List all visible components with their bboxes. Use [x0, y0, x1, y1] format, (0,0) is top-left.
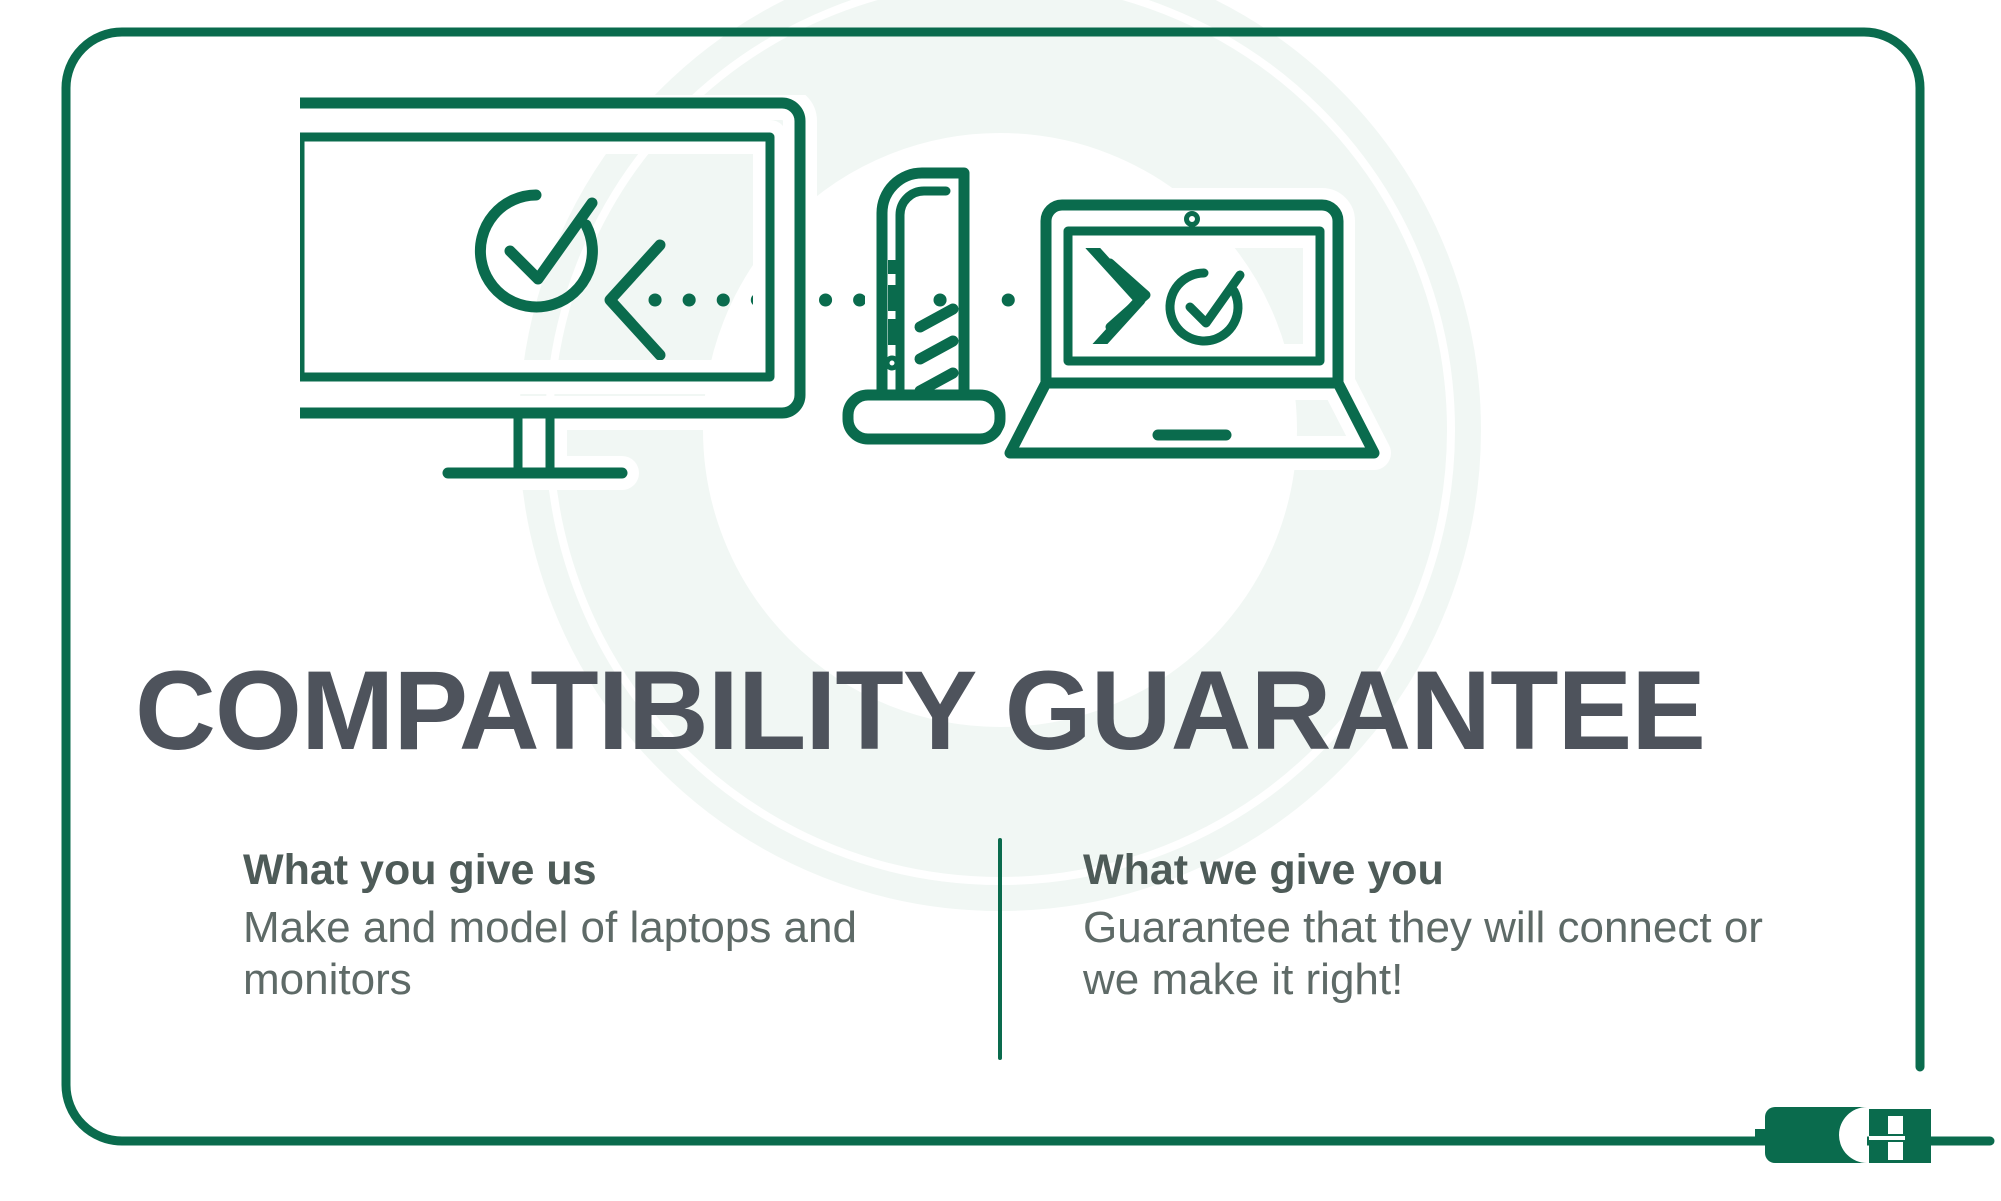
- laptop-computer: [1010, 205, 1374, 453]
- desktop-monitor: [300, 103, 800, 473]
- column-left-heading: What you give us: [243, 845, 943, 896]
- infographic-card: .gl { fill:none; stroke:#0a6b4d; stroke-…: [0, 0, 2001, 1201]
- device-illustration: .gl { fill:none; stroke:#0a6b4d; stroke-…: [300, 95, 1720, 615]
- check-circle-icon: [1170, 273, 1240, 341]
- docking-station: [848, 173, 1000, 439]
- usb-connector-logo: [1755, 1095, 1965, 1175]
- page-title: COMPATIBILITY GUARANTEE: [0, 655, 1840, 767]
- check-circle-icon: [480, 195, 592, 307]
- column-divider: [998, 838, 1002, 1060]
- column-what-we-give-you: What we give you Guarantee that they wil…: [1083, 845, 1803, 1006]
- column-what-you-give-us: What you give us Make and model of lapto…: [243, 845, 943, 1006]
- column-right-heading: What we give you: [1083, 845, 1803, 896]
- column-left-body: Make and model of laptops and monitors: [243, 902, 943, 1006]
- column-right-body: Guarantee that they will connect or we m…: [1083, 902, 1803, 1006]
